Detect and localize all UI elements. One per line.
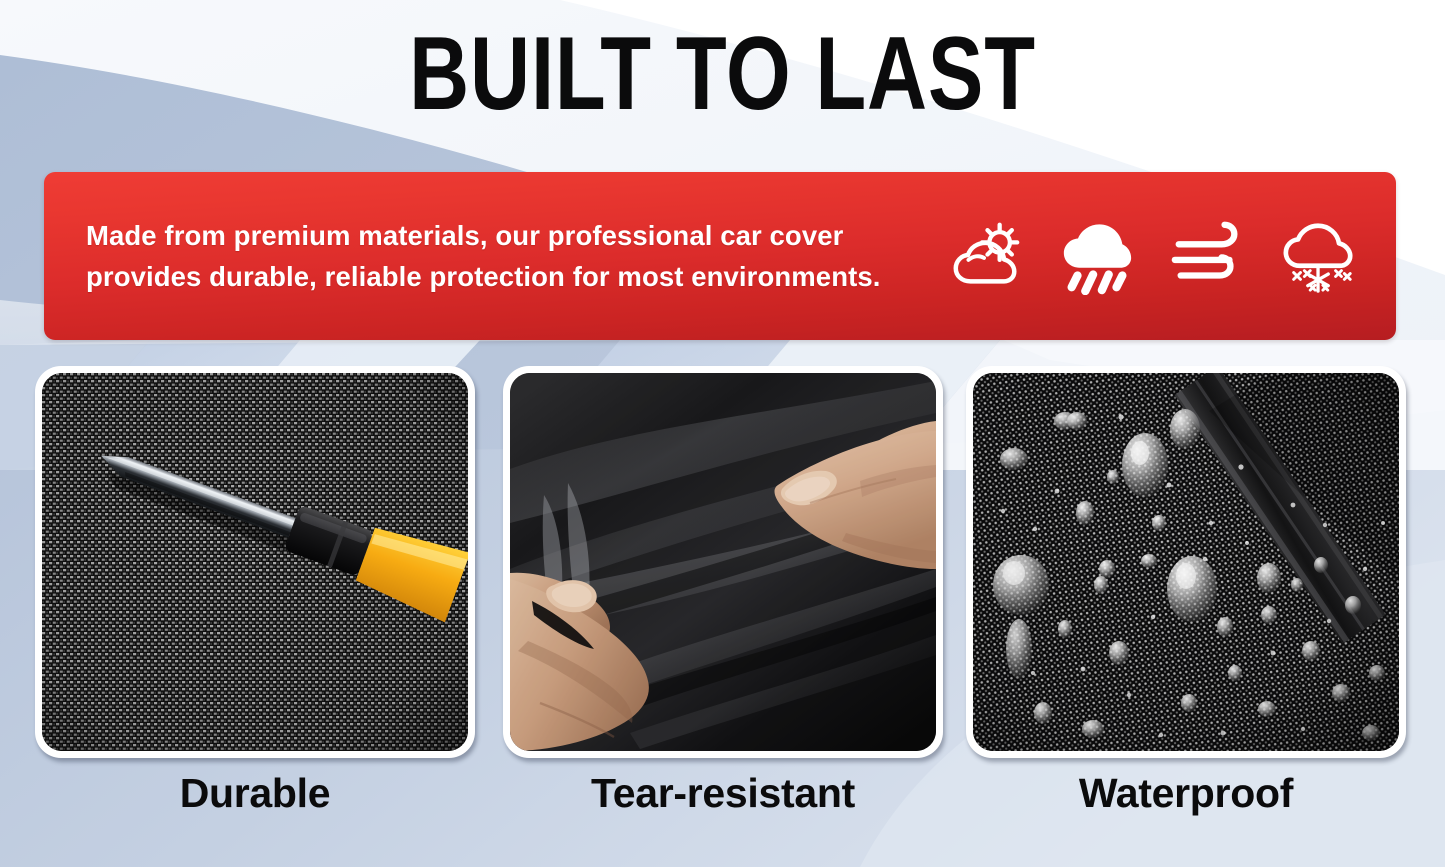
caption-waterproof: Waterproof bbox=[966, 762, 1406, 824]
sun-behind-cloud-icon bbox=[947, 217, 1025, 295]
caption-tear-resistant: Tear-resistant bbox=[503, 762, 943, 824]
hands-stretching-black-material-photo bbox=[510, 373, 936, 751]
snow-cloud-icon bbox=[1280, 217, 1358, 295]
feature-card-tear-resistant bbox=[503, 366, 943, 758]
caption-durable: Durable bbox=[35, 762, 475, 824]
feature-card-waterproof bbox=[966, 366, 1406, 758]
feature-card-durable bbox=[35, 366, 475, 758]
water-beads-on-fabric-photo bbox=[973, 373, 1399, 751]
promo-banner: Made from premium materials, our profess… bbox=[44, 172, 1396, 340]
promo-banner-text: Made from premium materials, our profess… bbox=[44, 215, 924, 297]
feature-caption-row: Durable Tear-resistant Waterproof bbox=[0, 762, 1445, 832]
weather-icon-group bbox=[924, 217, 1396, 295]
woven-fabric-with-screwdriver-photo bbox=[42, 373, 468, 751]
feature-photo-row bbox=[0, 366, 1445, 766]
page-title: BUILT TO LAST bbox=[145, 22, 1301, 126]
rain-cloud-icon bbox=[1058, 217, 1136, 295]
wind-icon bbox=[1169, 217, 1247, 295]
